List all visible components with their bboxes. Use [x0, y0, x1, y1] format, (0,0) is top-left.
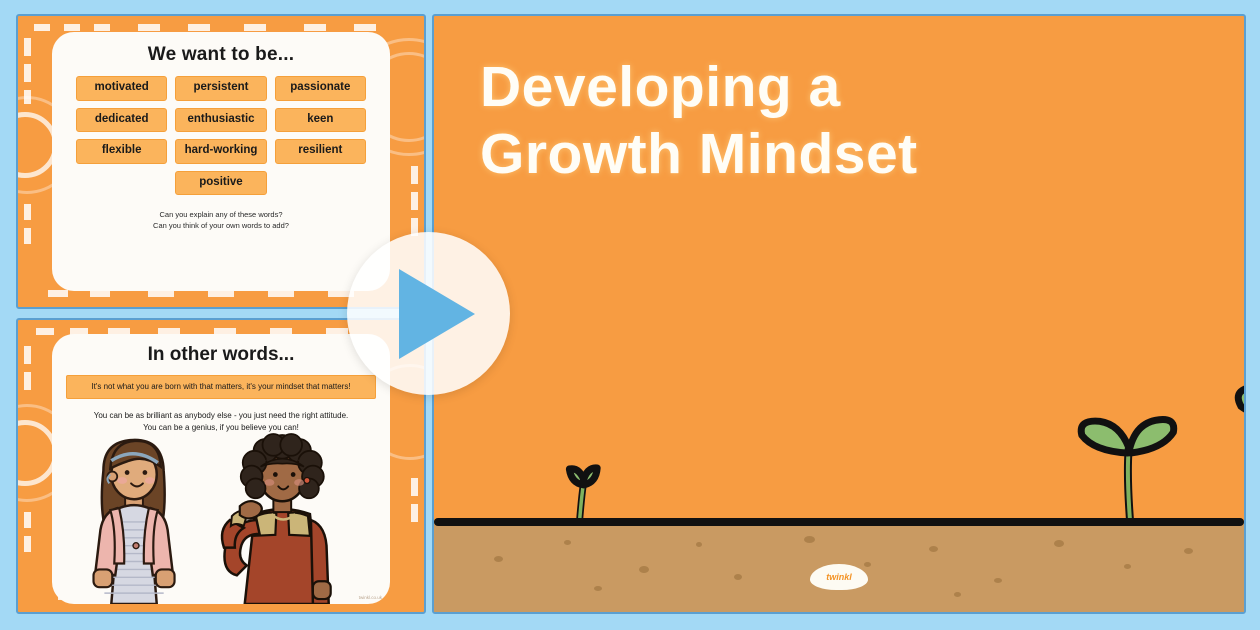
body-line-1: You can be as brilliant as anybody else … — [70, 410, 372, 423]
boy-character — [222, 434, 331, 604]
thumbnail-1-card: We want to be... motivated persistent pa… — [52, 32, 390, 291]
word-tile[interactable]: motivated — [76, 76, 167, 101]
main-slide-preview[interactable]: Developing a Growth Mindset — [432, 14, 1246, 614]
word-tile[interactable]: flexible — [76, 139, 167, 164]
word-tile-grid: motivated persistent passionate dedicate… — [76, 76, 366, 195]
soil-ground: twinkl — [434, 522, 1244, 612]
thumbnail-1-footer: Can you explain any of these words? Can … — [52, 209, 390, 232]
word-tile[interactable]: persistent — [175, 76, 266, 101]
thumbnail-2-card: In other words... It's not what you are … — [52, 334, 390, 604]
word-tile[interactable]: dedicated — [76, 108, 167, 133]
soil-top-edge — [434, 518, 1244, 526]
word-tile[interactable]: resilient — [275, 139, 366, 164]
thumbnail-2-title: In other words... — [52, 344, 390, 366]
thumbnail-1-title: We want to be... — [52, 44, 390, 66]
girl-character — [94, 440, 175, 604]
plant-stage-3 — [1238, 335, 1244, 532]
word-tile[interactable]: hard-working — [175, 139, 266, 164]
plant-stage-1 — [569, 468, 597, 525]
thumbnail-2-banner: It's not what you are born with that mat… — [66, 375, 376, 399]
children-illustration — [52, 429, 390, 604]
footer-line-1: Can you explain any of these words? — [52, 209, 390, 220]
plant-stage-2 — [1081, 419, 1174, 527]
twinkl-logo: twinkl — [810, 564, 868, 590]
play-button[interactable] — [347, 232, 510, 395]
word-tile[interactable]: passionate — [275, 76, 366, 101]
word-tile[interactable]: enthusiastic — [175, 108, 266, 133]
twinkl-logo-text: twinkl — [810, 564, 868, 590]
play-triangle-icon — [399, 269, 475, 359]
twinkl-watermark: twinkl.co.uk — [359, 595, 382, 600]
footer-line-2: Can you think of your own words to add? — [52, 220, 390, 231]
word-tile[interactable]: keen — [275, 108, 366, 133]
word-tile[interactable]: positive — [175, 171, 266, 196]
